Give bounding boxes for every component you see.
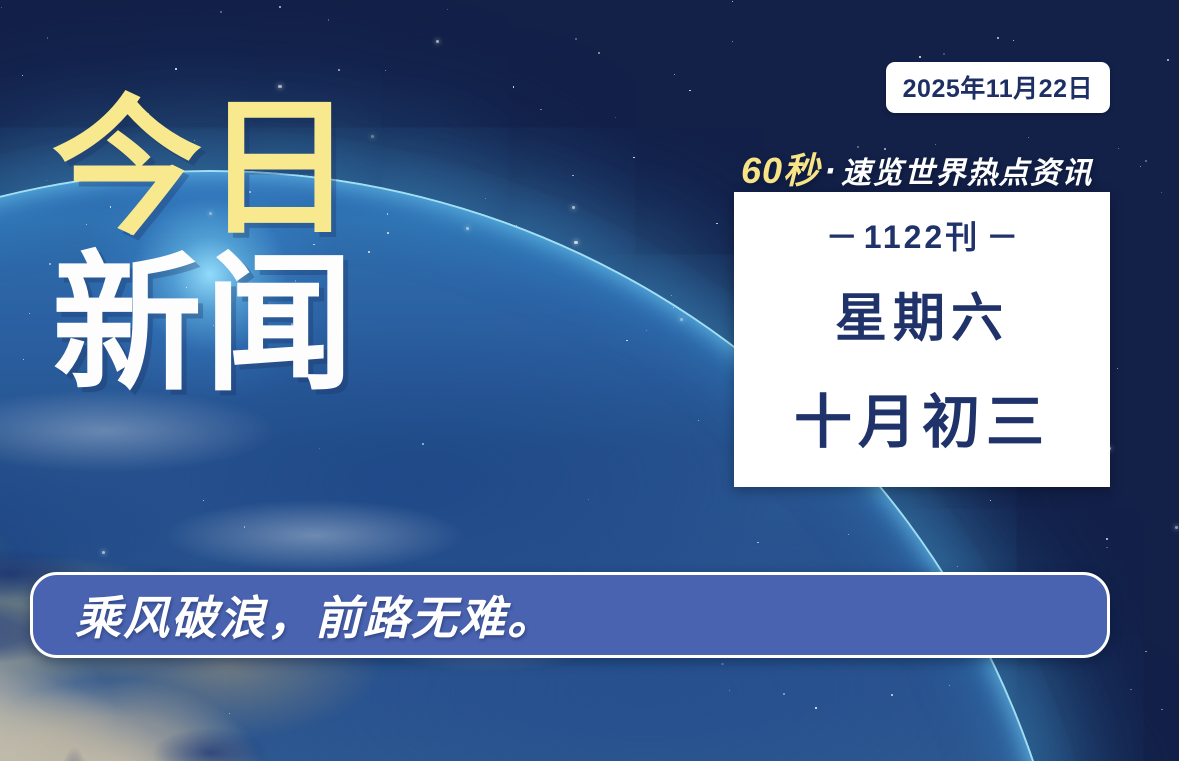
issue-number: 1122刊 [864,219,980,255]
issue-dash-left: － [820,219,864,255]
title-line-today: 今日 [52,96,356,242]
slogan-text: 速览世界热点资讯 [841,157,1093,190]
slogan-duration: 60秒 [741,150,820,191]
news-poster: 今日 新闻 2025年11月22日 60秒·速览世界热点资讯 －1122刊－ 星… [0,0,1179,761]
quote-bar: 乘风破浪，前路无难。 [30,572,1110,658]
issue-dash-right: － [980,219,1024,255]
slogan-separator: · [824,150,837,191]
date-badge: 2025年11月22日 [886,62,1110,113]
quote-text: 乘风破浪，前路无难。 [75,582,555,648]
lunar-date: 十月初三 [794,375,1050,459]
slogan: 60秒·速览世界热点资讯 [741,142,1093,194]
issue-line: －1122刊－ [820,212,1024,258]
title-line-news: 新闻 [52,252,356,398]
page-title: 今日 新闻 [52,96,356,397]
weekday: 星期六 [835,276,1009,351]
info-card: －1122刊－ 星期六 十月初三 [734,192,1110,487]
